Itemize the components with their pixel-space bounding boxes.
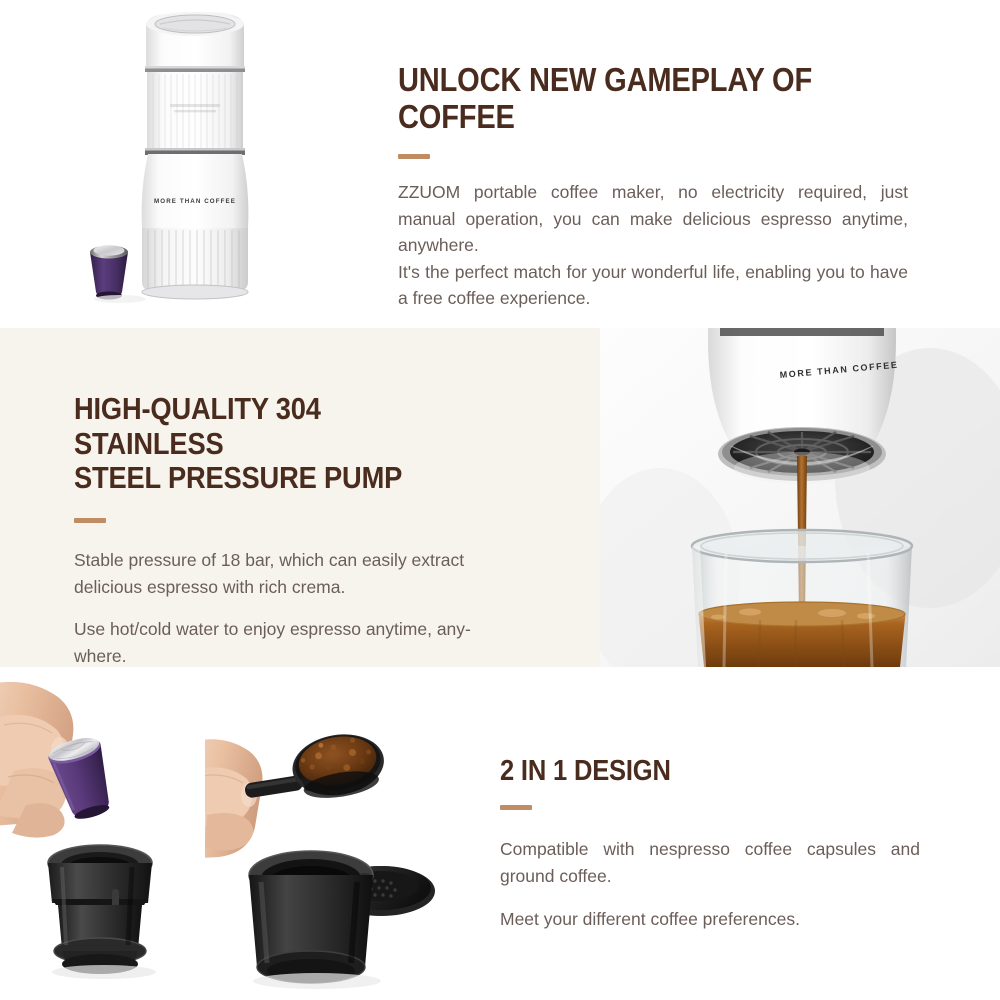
nespresso-capsule-illustration (90, 245, 128, 299)
section-3-headline: 2 IN 1 DESIGN (500, 755, 870, 787)
espresso-pouring-photo: MORE THAN COFFEE (600, 328, 1000, 667)
section-stainless-pressure-pump: HIGH-QUALITY 304 STAINLESS STEEL PRESSUR… (0, 328, 1000, 667)
section-1-body: ZZUOM portable coffee maker, no electric… (398, 179, 908, 312)
section-1-headline: UNLOCK NEW GAMEPLAY OF COFFEE (398, 62, 847, 136)
section-3-accent-rule (500, 805, 532, 810)
section-1-paragraph-1: ZZUOM portable coffee maker, no electric… (398, 179, 908, 259)
filter-cup (249, 851, 373, 983)
section-2-copy: HIGH-QUALITY 304 STAINLESS STEEL PRESSUR… (74, 392, 504, 670)
section-1-copy: UNLOCK NEW GAMEPLAY OF COFFEE ZZUOM port… (398, 62, 908, 312)
section-2-paragraph-2: Use hot/cold water to enjoy espresso any… (74, 616, 504, 669)
ground-coffee-illustration (205, 667, 435, 1000)
capsule-holder (48, 845, 152, 974)
product-feature-page: MORE THAN COFFEE (0, 0, 1000, 1000)
capsule-insert-photo (0, 667, 200, 1000)
capsule-insert-illustration (0, 667, 200, 1000)
coffee-maker-product-photo: MORE THAN COFFEE (60, 0, 360, 328)
section-3-body: Compatible with nespresso coffee capsule… (500, 836, 920, 932)
product-brand-label: MORE THAN COFFEE (154, 198, 236, 205)
section-3-paragraph-1: Compatible with nespresso coffee capsule… (500, 836, 920, 889)
espresso-pour-illustration: MORE THAN COFFEE (600, 328, 1000, 667)
section-2-accent-rule (74, 518, 106, 523)
section-2-body: Stable pressure of 18 bar, which can eas… (74, 547, 504, 669)
section-2-paragraph-1: Stable pressure of 18 bar, which can eas… (74, 547, 504, 600)
espresso-glass (692, 530, 912, 667)
ground-coffee-scoop-photo (205, 667, 435, 1000)
section-unlock-new-gameplay: MORE THAN COFFEE (0, 0, 1000, 328)
section-2-headline: HIGH-QUALITY 304 STAINLESS STEEL PRESSUR… (74, 392, 452, 496)
section-1-paragraph-2: It's the perfect match for your wonderfu… (398, 259, 908, 312)
coffee-maker-illustration: MORE THAN COFFEE (60, 0, 360, 328)
section-two-in-one-design: 2 IN 1 DESIGN Compatible with nespresso … (0, 667, 1000, 1000)
section-3-copy: 2 IN 1 DESIGN Compatible with nespresso … (500, 755, 920, 932)
section-1-accent-rule (398, 154, 430, 159)
section-3-paragraph-2: Meet your different coffee preferences. (500, 906, 920, 933)
